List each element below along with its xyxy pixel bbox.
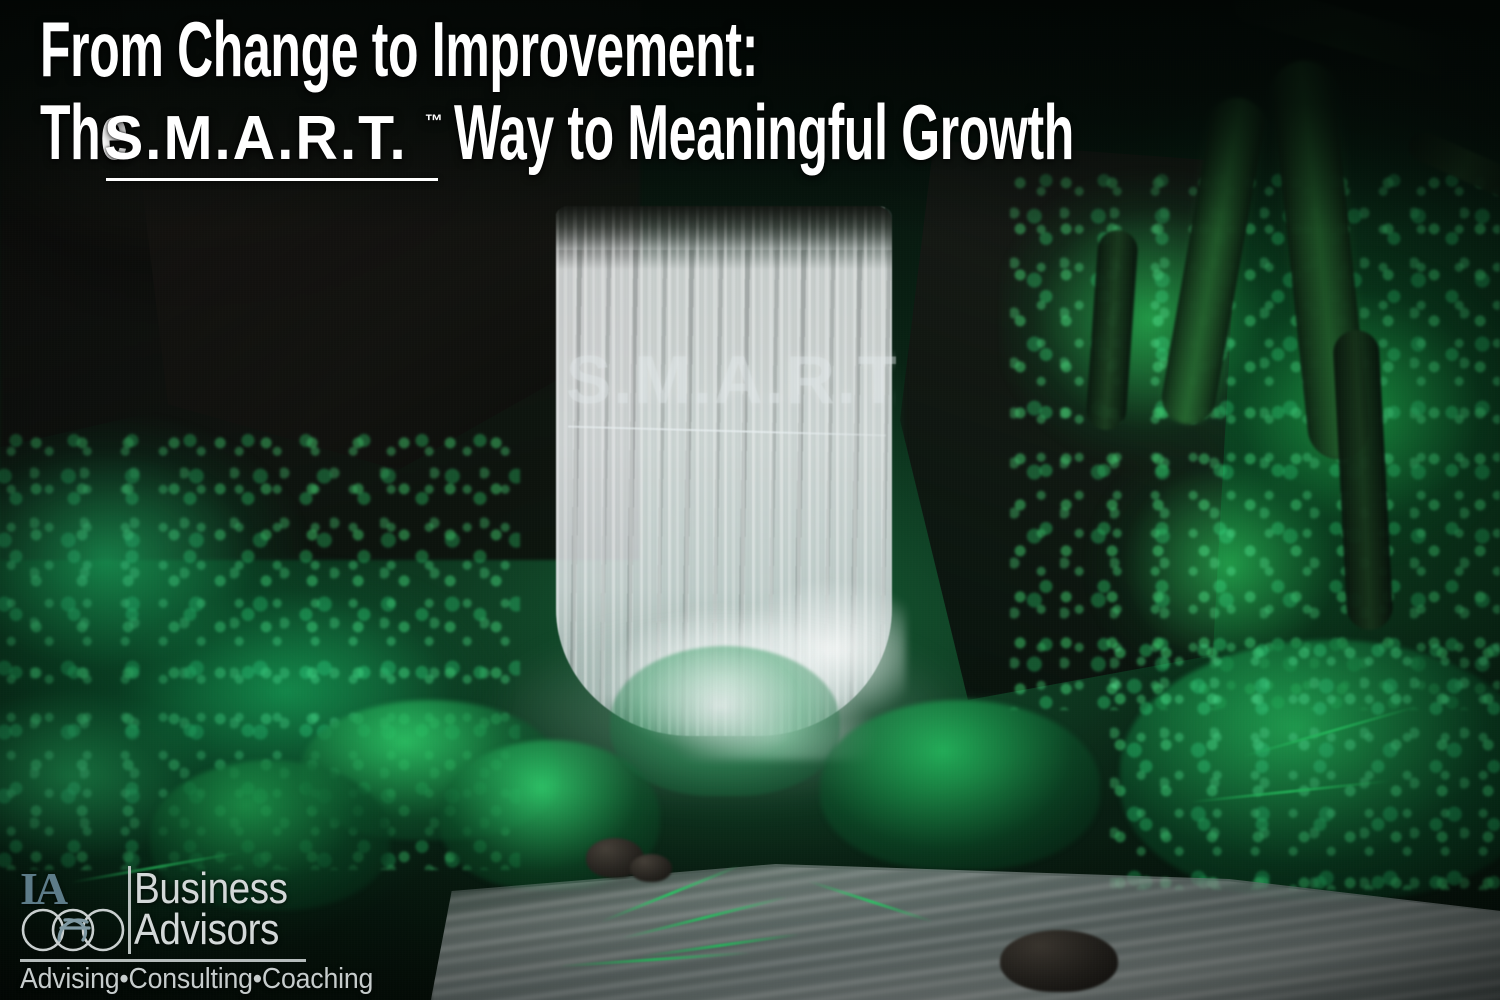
smart-brand-text: S.M.A.R.T.: [104, 109, 408, 169]
logo-word-business: Business: [134, 868, 288, 909]
vertical-divider-icon: [128, 866, 131, 954]
shrub-front-of-falls: [610, 646, 840, 796]
logo-horizontal-rule: [20, 959, 306, 962]
smart-brand-underline: [106, 178, 438, 181]
mossy-boulder-4: [820, 700, 1100, 870]
three-interlocking-rings-icon: [21, 906, 125, 954]
stream-rock-3: [630, 854, 672, 882]
smart-brand: S.M.A.R.T.™: [104, 109, 442, 169]
headline-line-1: From Change to Improvement:: [40, 12, 949, 87]
headline-line-2: The S.M.A.R.T.™ Way to Meaningful Growth: [40, 95, 1460, 170]
banner-image: S.M.A.R.T. From Cha: [0, 0, 1500, 1000]
logo-main-row: IA Business Advisors: [20, 868, 320, 956]
smart-watermark: S.M.A.R.T.: [566, 346, 896, 414]
headline-line-2-suffix: Way to Meaningful Growth: [454, 95, 743, 170]
leaf-texture-right: [1010, 170, 1500, 710]
logo-word-advisors: Advisors: [134, 909, 288, 950]
stream-rock-1: [1000, 930, 1118, 992]
fern-texture-right: [1110, 640, 1500, 890]
logo-wordmark: Business Advisors: [134, 868, 309, 951]
headline-line-2-prefix: The: [40, 95, 78, 170]
logo-mark: IA: [20, 868, 124, 956]
logo-tagline: Advising•Consulting•Coaching: [20, 963, 296, 996]
headline: From Change to Improvement: The S.M.A.R.…: [40, 12, 1460, 170]
trademark-symbol: ™: [425, 111, 443, 131]
ia-business-advisors-logo: IA Business Advisors: [20, 868, 320, 986]
